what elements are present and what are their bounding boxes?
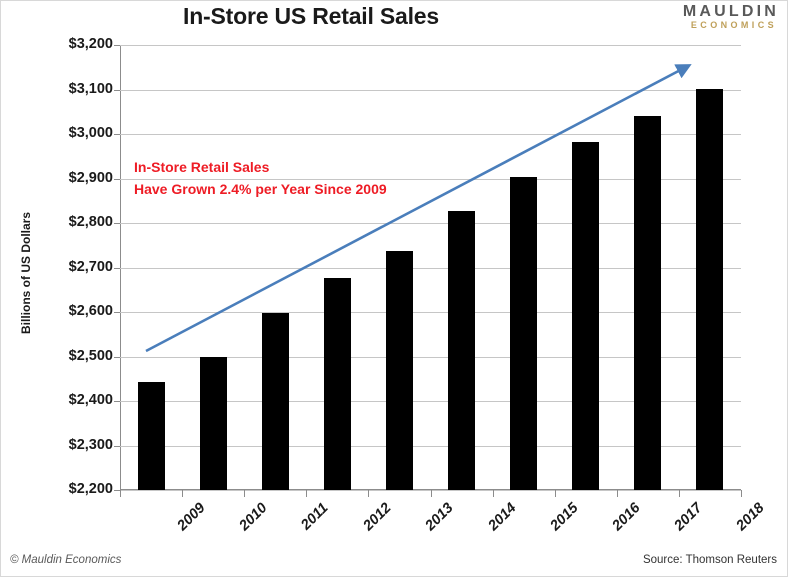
x-axis-tick-label: 2009 <box>174 500 208 534</box>
y-axis-tick <box>114 357 120 358</box>
annotation-line-2: Have Grown 2.4% per Year Since 2009 <box>134 178 387 200</box>
annotation-line-1: In-Store Retail Sales <box>134 156 387 178</box>
annotation-callout: In-Store Retail Sales Have Grown 2.4% pe… <box>134 156 387 200</box>
y-axis-tick-label: $2,200 <box>33 481 113 497</box>
y-axis-tick <box>114 268 120 269</box>
x-axis-tick <box>244 490 245 497</box>
y-axis-tick <box>114 45 120 46</box>
brand-name: MAULDIN <box>683 4 779 20</box>
y-axis-tick-label: $3,100 <box>33 81 113 97</box>
x-axis-tick-label: 2018 <box>733 500 767 534</box>
plot-area: 2009201020112012201320142015201620172018 <box>120 45 741 490</box>
x-axis-tick-label: 2012 <box>361 500 395 534</box>
x-axis-tick <box>741 490 742 497</box>
x-axis-tick-label: 2010 <box>237 500 271 534</box>
y-axis-tick <box>114 401 120 402</box>
x-axis-tick <box>617 490 618 497</box>
brand-logo: MAULDIN ECONOMICS <box>683 4 779 30</box>
bar-2017 <box>634 116 661 490</box>
x-axis-tick <box>679 490 680 497</box>
x-axis-tick-label: 2014 <box>485 500 519 534</box>
source-text: Source: Thomson Reuters <box>643 554 777 566</box>
y-axis-tick-label: $2,400 <box>33 392 113 408</box>
brand-tagline: ECONOMICS <box>683 21 777 30</box>
bar-2010 <box>200 357 227 490</box>
bar-2016 <box>572 142 599 490</box>
y-axis-tick-label: $2,700 <box>33 259 113 275</box>
x-axis-tick-label: 2013 <box>423 500 457 534</box>
y-axis-tick-label: $2,500 <box>33 348 113 364</box>
gridline <box>120 45 741 46</box>
y-axis-tick <box>114 90 120 91</box>
y-axis-tick <box>114 223 120 224</box>
y-axis-tick-label: $2,900 <box>33 170 113 186</box>
y-axis-tick-labels: $3,200$3,100$3,000$2,900$2,800$2,700$2,6… <box>29 45 113 490</box>
y-axis-tick <box>114 312 120 313</box>
copyright-text: © Mauldin Economics <box>10 554 121 566</box>
y-axis-tick-label: $2,300 <box>33 437 113 453</box>
x-axis-tick <box>555 490 556 497</box>
y-axis-tick <box>114 446 120 447</box>
x-axis-tick <box>368 490 369 497</box>
bar-2015 <box>510 177 537 490</box>
chart-page: In-Store US Retail Sales MAULDIN ECONOMI… <box>0 0 788 577</box>
x-axis-tick <box>493 490 494 497</box>
bar-2014 <box>448 211 475 490</box>
y-axis-tick <box>114 179 120 180</box>
y-axis-tick-label: $2,800 <box>33 214 113 230</box>
y-axis-tick-label: $3,200 <box>33 36 113 52</box>
bar-2009 <box>138 382 165 490</box>
x-axis-tick-label: 2015 <box>547 500 581 534</box>
page-title: In-Store US Retail Sales <box>1 3 621 30</box>
bar-2011 <box>262 313 289 490</box>
x-axis-tick <box>182 490 183 497</box>
x-axis-tick-label: 2011 <box>298 500 331 533</box>
x-axis-tick-label: 2017 <box>671 500 705 534</box>
y-axis-tick-label: $3,000 <box>33 125 113 141</box>
bar-2012 <box>324 278 351 490</box>
y-axis-tick <box>114 134 120 135</box>
gridline <box>120 90 741 91</box>
x-axis-tick <box>431 490 432 497</box>
x-axis-tick <box>306 490 307 497</box>
bar-2013 <box>386 251 413 490</box>
bar-2018 <box>696 89 723 490</box>
y-axis-tick-label: $2,600 <box>33 303 113 319</box>
x-axis-tick-label: 2016 <box>609 500 643 534</box>
x-axis-tick <box>120 490 121 497</box>
